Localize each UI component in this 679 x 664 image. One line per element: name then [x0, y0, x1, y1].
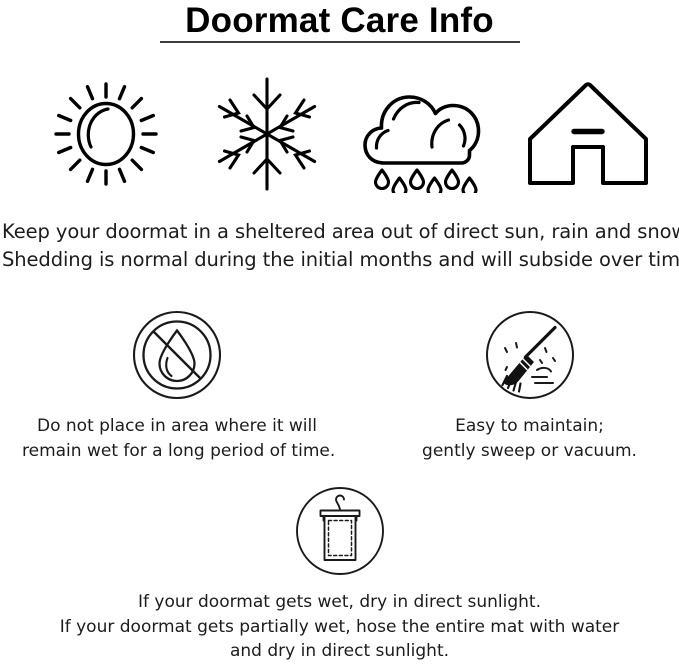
care-items-row: Do not place in area where it will remai… [0, 310, 679, 470]
caption-line-3: and dry in direct sunlight. [0, 639, 679, 664]
snowflake-icon [214, 77, 320, 191]
no-water-icon [132, 310, 222, 400]
care-icon-wrap [0, 486, 679, 586]
broom-sweep-icon [485, 310, 575, 400]
weather-cell-sun [28, 74, 184, 194]
caption-line-1: Easy to maintain; [400, 414, 659, 439]
care-icon-wrap [22, 310, 332, 410]
rain-cloud-icon [362, 75, 490, 193]
intro-line-2: Shedding is normal during the initial mo… [2, 246, 679, 274]
caption-line-1: Do not place in area where it will [22, 414, 332, 439]
care-item-no-standing-water: Do not place in area where it will remai… [22, 310, 332, 463]
caption-line-2: remain wet for a long period of time. [22, 439, 332, 464]
weather-cell-house [512, 74, 664, 194]
caption-line-1: If your doormat gets wet, dry in direct … [0, 590, 679, 615]
intro-line-1: Keep your doormat in a sheltered area ou… [2, 218, 679, 246]
hanging-mat-dry-icon [295, 486, 385, 576]
care-icon-wrap [400, 310, 659, 410]
caption-line-2: If your doormat gets partially wet, hose… [0, 615, 679, 640]
weather-icon-row [0, 74, 679, 194]
intro-paragraph: Keep your doormat in a sheltered area ou… [2, 218, 679, 274]
title-block: Doormat Care Info [0, 0, 679, 43]
house-icon [527, 81, 649, 187]
care-caption-drying: If your doormat gets wet, dry in direct … [0, 590, 679, 664]
caption-line-2: gently sweep or vacuum. [400, 439, 659, 464]
sun-icon [50, 78, 162, 190]
care-item-easy-maintain: Easy to maintain; gently sweep or vacuum… [400, 310, 659, 463]
weather-cell-rain [350, 74, 502, 194]
weather-cell-snow [192, 74, 342, 194]
care-item-drying: If your doormat gets wet, dry in direct … [0, 486, 679, 664]
page-title: Doormat Care Info [0, 0, 679, 41]
title-underline-rule [160, 41, 520, 43]
care-caption-no-standing-water: Do not place in area where it will remai… [22, 414, 332, 463]
care-caption-easy-maintain: Easy to maintain; gently sweep or vacuum… [400, 414, 659, 463]
